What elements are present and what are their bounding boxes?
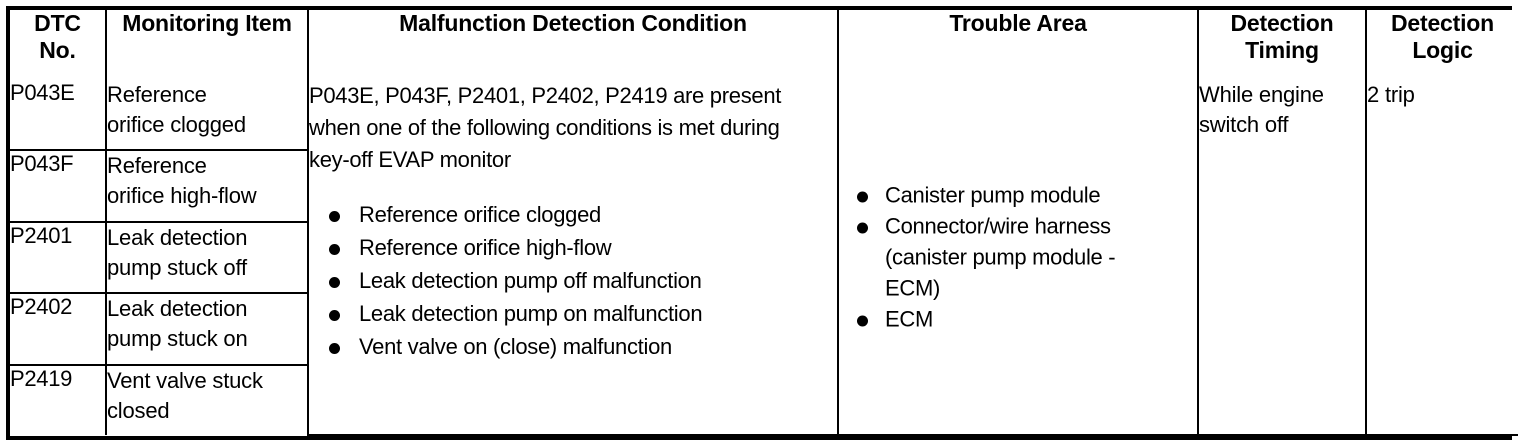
condition-bullet-text: Leak detection pump off malfunction [359, 268, 702, 293]
bullet-dot-icon [857, 192, 868, 203]
monitoring-item-line2: pump stuck off [107, 255, 247, 280]
dtc-code-cell: P043E [10, 80, 106, 150]
dtc-table: DTC No. Monitoring Item Malfunction Dete… [10, 10, 1518, 436]
column-header-dtc-no-line1: DTC [34, 10, 81, 36]
dtc-table-container: DTC No. Monitoring Item Malfunction Dete… [6, 6, 1512, 440]
column-header-detection-logic: Detection Logic [1366, 10, 1518, 80]
dtc-code-cell: P2419 [10, 365, 106, 435]
condition-bullet-text: Leak detection pump on malfunction [359, 301, 702, 326]
list-item: Vent valve on (close) malfunction [309, 330, 837, 363]
bullet-dot-icon [329, 343, 340, 354]
column-header-monitoring-item: Monitoring Item [106, 10, 308, 80]
table-body: P043E Reference orifice clogged P043E, P… [10, 80, 1518, 435]
column-header-trouble-area: Trouble Area [838, 10, 1198, 80]
list-item: Reference orifice clogged [309, 198, 837, 231]
list-item: Leak detection pump on malfunction [309, 297, 837, 330]
monitoring-item-cell: Reference orifice clogged [106, 80, 308, 150]
list-item: ECM [853, 304, 1189, 335]
bullet-dot-icon [329, 277, 340, 288]
column-header-detection-timing: Detection Timing [1198, 10, 1366, 80]
condition-intro-text: P043E, P043F, P2401, P2402, P2419 are pr… [309, 80, 814, 176]
monitoring-item-line1: Leak detection [107, 225, 247, 250]
monitoring-item-line2: pump stuck on [107, 326, 247, 351]
list-item: Connector/wire harness (canister pump mo… [853, 211, 1189, 304]
detection-logic-cell: 2 trip [1366, 80, 1518, 435]
list-item: Reference orifice high-flow [309, 231, 837, 264]
column-header-detection-timing-line1: Detection [1231, 10, 1334, 36]
bullet-dot-icon [329, 211, 340, 222]
dtc-code-cell: P2402 [10, 293, 106, 364]
monitoring-item-cell: Leak detection pump stuck on [106, 293, 308, 364]
trouble-area-bullet-text: ECM [885, 307, 933, 332]
column-header-detection-timing-line2: Timing [1245, 37, 1319, 63]
dtc-code-cell: P2401 [10, 222, 106, 293]
trouble-area-inner: Canister pump module Connector/wire harn… [853, 180, 1189, 335]
monitoring-item-line2: closed [107, 398, 169, 423]
column-header-dtc-no-line2: No. [39, 37, 75, 63]
column-header-dtc-no: DTC No. [10, 10, 106, 80]
monitoring-item-cell: Leak detection pump stuck off [106, 222, 308, 293]
monitoring-item-line1: Vent valve stuck [107, 368, 263, 393]
list-item: Leak detection pump off malfunction [309, 264, 837, 297]
list-item: Canister pump module [853, 180, 1189, 211]
trouble-area-bullet-continuation: (canister pump module - [885, 242, 1189, 273]
condition-bullet-list: Reference orifice clogged Reference orif… [309, 198, 837, 363]
condition-bullet-text: Vent valve on (close) malfunction [359, 334, 672, 359]
bullet-dot-icon [857, 223, 868, 234]
malfunction-condition-cell: P043E, P043F, P2401, P2402, P2419 are pr… [308, 80, 838, 435]
table-row: P043E Reference orifice clogged P043E, P… [10, 80, 1518, 150]
trouble-area-bullet-text: Connector/wire harness [885, 214, 1111, 239]
column-header-detection-logic-line2: Logic [1412, 37, 1472, 63]
monitoring-item-line1: Leak detection [107, 296, 247, 321]
monitoring-item-line2: orifice high-flow [107, 183, 256, 208]
bullet-dot-icon [329, 244, 340, 255]
monitoring-item-line1: Reference [107, 153, 207, 178]
trouble-area-bullet-continuation: ECM) [885, 273, 1189, 304]
trouble-area-bullet-text: Canister pump module [885, 183, 1100, 208]
column-header-detection-logic-line1: Detection [1391, 10, 1494, 36]
table-header: DTC No. Monitoring Item Malfunction Dete… [10, 10, 1518, 80]
condition-bullet-text: Reference orifice clogged [359, 202, 601, 227]
header-row: DTC No. Monitoring Item Malfunction Dete… [10, 10, 1518, 80]
bullet-dot-icon [857, 316, 868, 327]
trouble-area-cell: Canister pump module Connector/wire harn… [838, 80, 1198, 435]
detection-timing-cell: While engine switch off [1198, 80, 1366, 435]
trouble-area-bullet-list: Canister pump module Connector/wire harn… [853, 180, 1189, 335]
monitoring-item-cell: Reference orifice high-flow [106, 150, 308, 221]
monitoring-item-line1: Reference [107, 82, 207, 107]
bullet-dot-icon [329, 310, 340, 321]
monitoring-item-cell: Vent valve stuck closed [106, 365, 308, 435]
condition-bullet-text: Reference orifice high-flow [359, 235, 611, 260]
dtc-code-cell: P043F [10, 150, 106, 221]
monitoring-item-line2: orifice clogged [107, 112, 246, 137]
column-header-malfunction-detection-condition: Malfunction Detection Condition [308, 10, 838, 80]
